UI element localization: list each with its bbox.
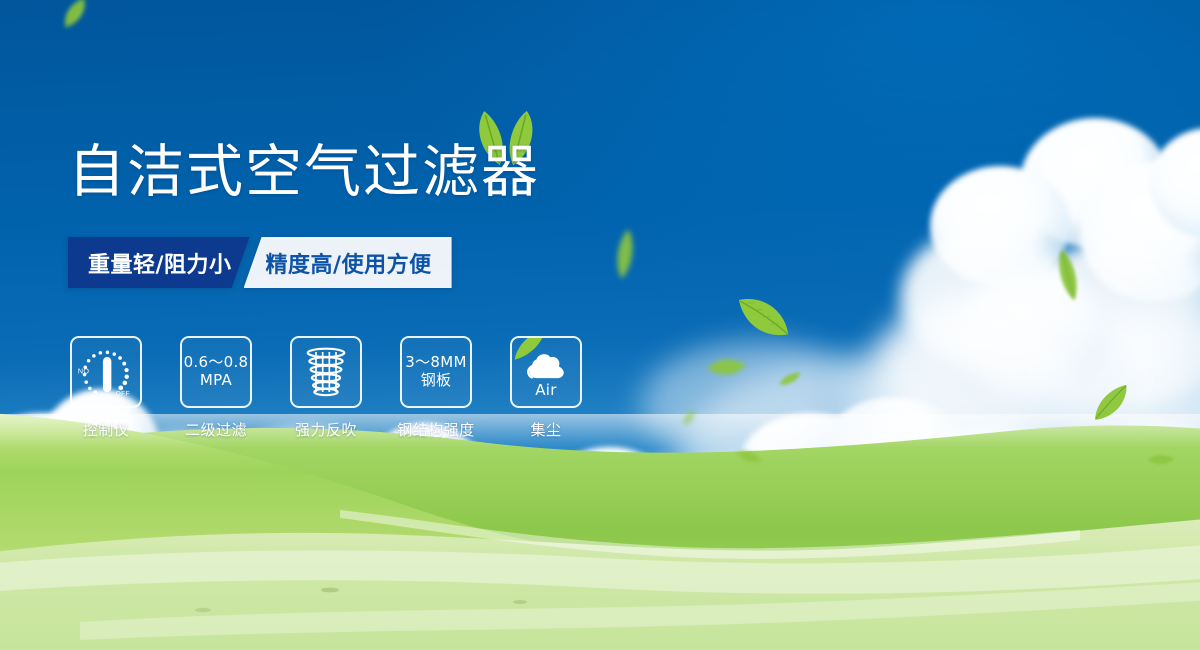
feature-item-pressure[interactable]: 0.6～0.8 MPA 二级过滤 [178,336,254,440]
subtitle-tag-bar: 重量轻/阻力小 精度高/使用方便 [68,237,452,288]
feature-label: 控制仪 [83,419,130,440]
subtitle-tag-right: 精度高/使用方便 [244,237,452,288]
feature-label: 钢结构强度 [397,419,475,440]
feature-label: 强力反吹 [295,419,357,440]
feature-label: 二级过滤 [185,419,247,440]
cloud-air-icon: Air [510,336,582,408]
feature-item-steel[interactable]: 3～8MM 钢板 钢结构强度 [398,336,474,440]
feature-item-dust[interactable]: Air 集尘 [508,336,584,440]
feature-item-control-dial[interactable]: NO OFF 控制仪 [68,336,144,440]
banner-content: 自洁式空气过滤器 重量轻/阻力小 精度高/使用方便 [0,0,1200,650]
filter-cartridge-icon [290,336,362,408]
steel-line-1: 3～8MM [405,354,466,372]
svg-text:NO: NO [78,367,90,376]
hero-banner: 自洁式空气过滤器 重量轻/阻力小 精度高/使用方便 [0,0,1200,650]
air-caption: Air [535,382,557,400]
steel-plate-text-icon: 3～8MM 钢板 [400,336,472,408]
control-dial-icon: NO OFF [70,336,142,408]
steel-line-2: 钢板 [421,372,452,390]
pressure-text-icon: 0.6～0.8 MPA [180,336,252,408]
pressure-line-2: MPA [200,372,232,390]
subtitle-tag-left: 重量轻/阻力小 [68,237,250,288]
pressure-line-1: 0.6～0.8 [184,354,249,372]
feature-label: 集尘 [530,419,561,440]
page-title: 自洁式空气过滤器 [68,144,540,201]
svg-text:OFF: OFF [116,391,130,398]
feature-list: NO OFF 控制仪 0.6～0.8 MPA 二级过滤 [68,336,584,440]
feature-item-blowback[interactable]: 强力反吹 [288,336,364,440]
